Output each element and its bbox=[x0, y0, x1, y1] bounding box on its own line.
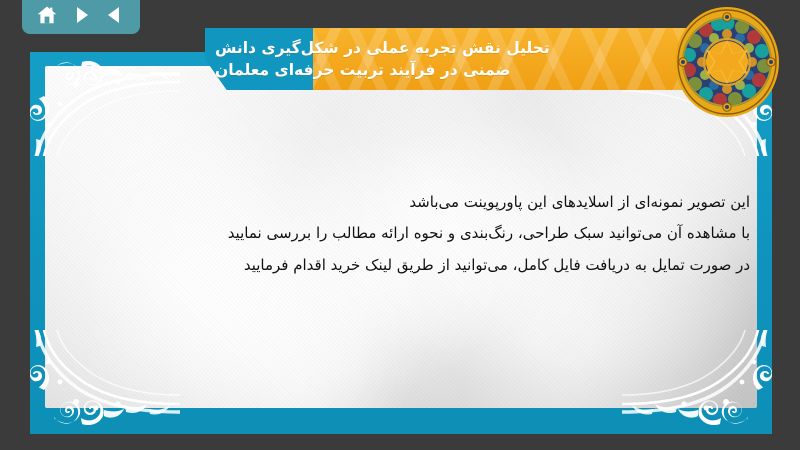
slide-body-text: این تصویر نمونه‌ای از اسلایدهای این پاور… bbox=[70, 190, 750, 284]
body-line-2: با مشاهده آن می‌توانید سبک طراحی، رنگ‌بن… bbox=[70, 221, 750, 245]
page-title: تحلیل نقش تجربه عملی در شکل‌گیری دانش ضم… bbox=[205, 28, 720, 90]
body-line-1: این تصویر نمونه‌ای از اسلایدهای این پاور… bbox=[70, 190, 750, 214]
title-line-1: تحلیل نقش تجربه عملی در شکل‌گیری دانش bbox=[215, 37, 550, 59]
title-line-2: ضمنی در فرآیند تربیت حرفه‌ای معلمان bbox=[215, 59, 510, 81]
back-button[interactable] bbox=[101, 2, 129, 28]
slide-frame: این تصویر نمونه‌ای از اسلایدهای این پاور… bbox=[30, 52, 772, 434]
slide-stage: این تصویر نمونه‌ای از اسلایدهای این پاور… bbox=[0, 0, 800, 450]
triangle-left-icon bbox=[105, 5, 125, 25]
body-line-3: در صورت تمایل به دریافت فایل کامل، می‌تو… bbox=[70, 253, 750, 277]
title-banner: تحلیل نقش تجربه عملی در شکل‌گیری دانش ضم… bbox=[205, 28, 720, 90]
house-icon bbox=[36, 5, 58, 25]
triangle-right-icon bbox=[71, 5, 91, 25]
forward-button[interactable] bbox=[67, 2, 95, 28]
home-button[interactable] bbox=[33, 2, 61, 28]
navigation-toolbar bbox=[22, 0, 140, 34]
